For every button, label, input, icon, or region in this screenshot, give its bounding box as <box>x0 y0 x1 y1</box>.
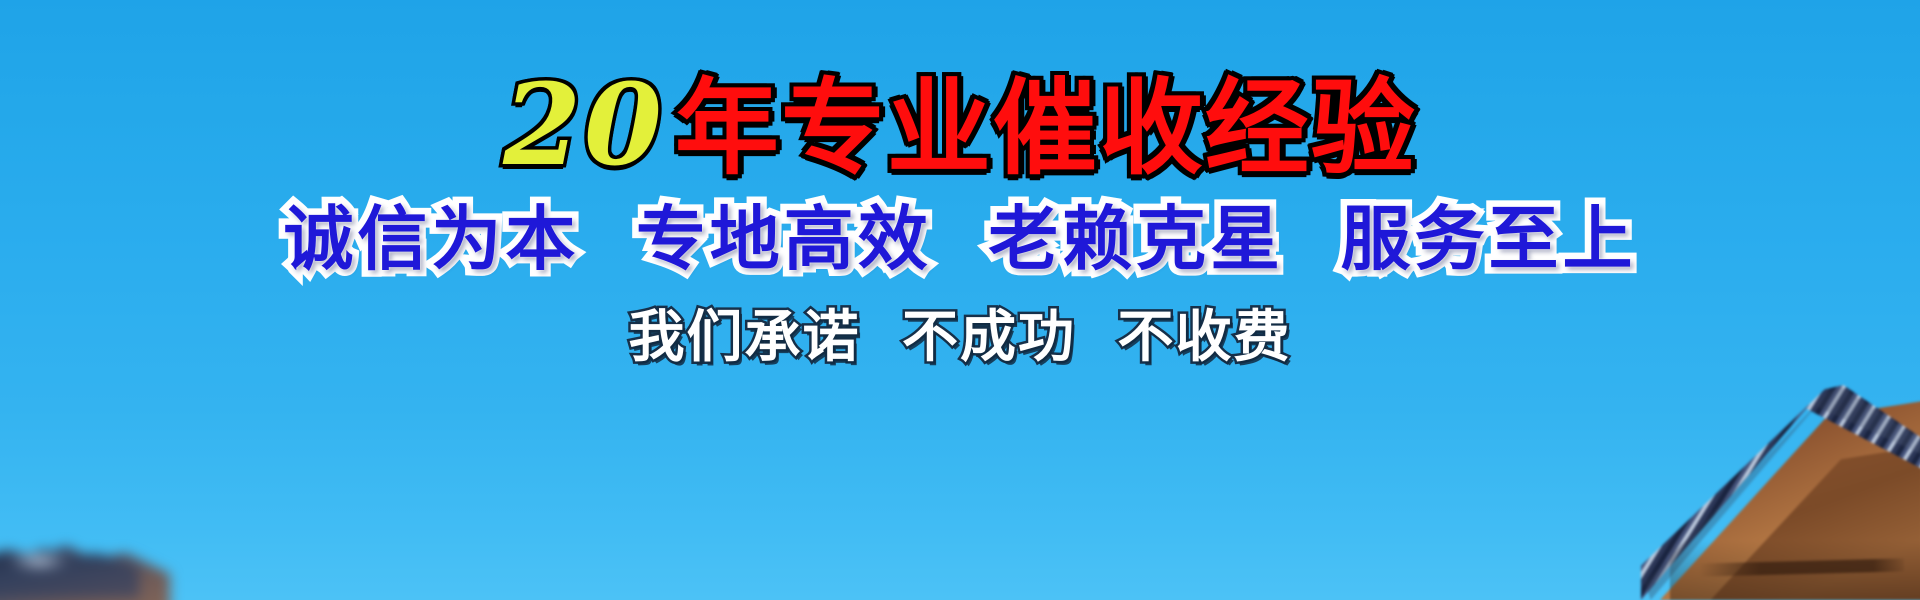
slogan-line: 诚信为本 专地高效 老赖克星 服务至上 <box>269 204 1650 274</box>
promise-item-2: 不成功 <box>902 305 1076 370</box>
banner-text-stack: 20年专业催收经验 诚信为本 专地高效 老赖克星 服务至上 我们承诺 不成功 不… <box>0 0 1920 600</box>
promise-line: 我们承诺 不成功 不收费 <box>619 310 1302 366</box>
promise-item-1: 我们承诺 <box>629 305 861 370</box>
slogan-item-2: 专地高效 <box>636 198 932 280</box>
headline-main-text: 年专业催收经验 <box>675 67 1417 189</box>
slogan-item-3: 老赖克星 <box>988 198 1284 280</box>
slogan-item-1: 诚信为本 <box>283 198 579 280</box>
promise-item-3: 不收费 <box>1118 305 1292 370</box>
slogan-item-4: 服务至上 <box>1341 198 1637 280</box>
headline-years-number: 20 <box>503 60 665 191</box>
headline: 20年专业催收经验 <box>503 70 1417 182</box>
promo-banner: 20年专业催收经验 诚信为本 专地高效 老赖克星 服务至上 我们承诺 不成功 不… <box>0 0 1920 600</box>
